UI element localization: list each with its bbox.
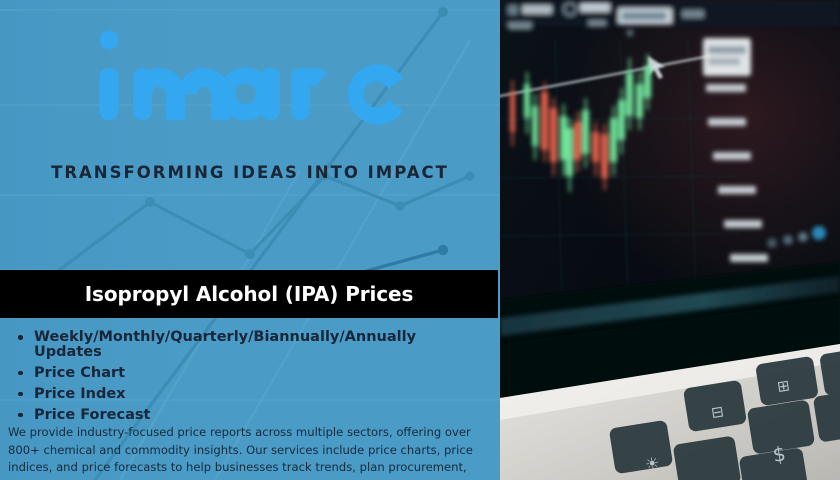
key-glyph-brightness: ☀ <box>644 453 661 474</box>
page-title: Isopropyl Alcohol (IPA) Prices <box>85 282 414 306</box>
laptop-photo-illustration: ⊞ ⊟ % 5 $ ☀ <box>500 0 840 480</box>
laptop-trading-photo: ⊞ ⊟ % 5 $ ☀ <box>500 0 840 480</box>
brand-logo-block: TRANSFORMING IDEAS INTO IMPACT <box>0 18 500 178</box>
left-info-panel: TRANSFORMING IDEAS INTO IMPACT Isopropyl… <box>0 0 500 480</box>
description-paragraph: We provide industry-focused price report… <box>8 424 490 480</box>
page-title-bar: Isopropyl Alcohol (IPA) Prices <box>0 270 498 318</box>
list-item: Price Forecast <box>0 408 470 423</box>
feature-list: Weekly/Monthly/Quarterly/Biannually/Annu… <box>0 330 470 429</box>
list-item: Price Chart <box>0 366 470 381</box>
list-item: Weekly/Monthly/Quarterly/Biannually/Annu… <box>0 330 470 359</box>
imarc-wordmark <box>85 18 415 138</box>
list-item: Price Index <box>0 387 470 402</box>
promo-banner: TRANSFORMING IDEAS INTO IMPACT Isopropyl… <box>0 0 840 480</box>
brand-tagline: TRANSFORMING IDEAS INTO IMPACT <box>0 163 500 182</box>
imarc-logo-icon <box>85 18 415 138</box>
